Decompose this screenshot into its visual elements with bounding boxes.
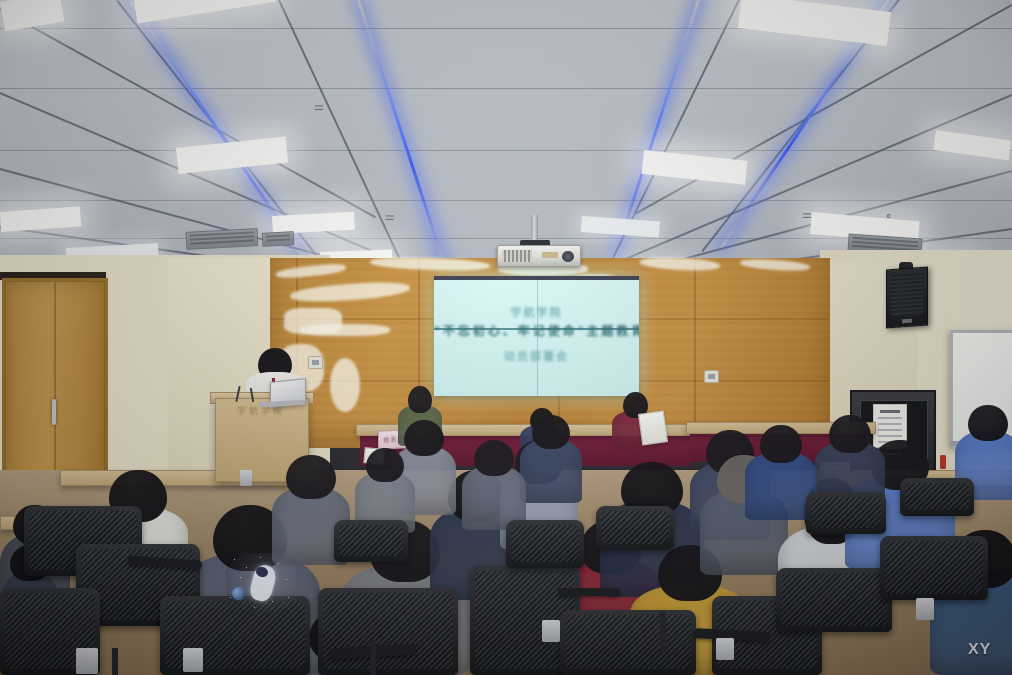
auditorium-chair[interactable] [900,478,974,516]
slide-line-2: "不忘初心、牢记使命"主题教育 [434,322,639,339]
auditorium-chair[interactable] [334,520,408,562]
person-head [474,440,514,476]
chair-bracket [240,470,252,486]
projector-lens-icon [562,251,574,262]
projection-screen: 宇航学院 "不忘初心、牢记使命"主题教育 动员部署会 [434,276,639,396]
ceiling-light-panel [0,206,81,232]
sprinkler-icon: ⚬ [884,212,893,223]
auditorium-chair[interactable] [318,588,458,675]
wall-switch[interactable] [704,370,719,383]
sprinkler-icon: ⚌ [802,210,812,221]
projector-vents [502,250,532,262]
held-papers [638,410,668,445]
person-head [408,386,432,413]
chair-bracket [542,620,560,642]
auditorium-chair[interactable] [596,506,674,550]
ceiling-light-panel [738,0,891,46]
ceiling-light-panel [176,137,288,174]
chair-leg [660,612,666,652]
chair-bracket [183,648,203,672]
ceiling-light-panel [132,0,276,24]
chair-bracket [716,638,734,660]
slide-line-3: 动员部署会 [434,348,639,364]
chair-leg [370,640,376,675]
moon-icon [232,587,245,600]
person-head [968,405,1008,441]
person-head [366,448,404,482]
door-handle[interactable] [52,399,56,425]
speaker-grill [891,273,923,317]
chair-bracket [76,648,98,674]
photo-scene: ⚌ ⚌ ⚌ ⚬ [0,0,1012,675]
ceiling-light-panel [933,130,1011,160]
ceiling-light-panel [641,150,747,185]
person-head [829,415,871,453]
wall-speaker [886,267,928,329]
auditorium-chair[interactable] [806,492,886,534]
audience-member [462,440,526,530]
person-head [532,415,570,449]
chair-leg [112,648,118,675]
ceiling-light-panel [581,216,660,237]
slide-line-1: 宇航学院 [434,304,639,320]
chair-armrest [558,588,620,596]
jacket-text: XY [968,641,991,659]
person-head [760,425,802,463]
auditorium-chair[interactable] [880,536,988,600]
person-head [286,455,336,499]
audience-member [520,415,582,503]
auditorium-chair[interactable] [560,610,696,675]
ceiling-projector [497,245,581,267]
auditorium-chair[interactable] [776,568,892,632]
blue-accent-light [357,0,449,277]
chair-bracket [916,598,934,620]
projector-mount-pole [531,215,538,243]
astronaut-graphic [226,553,296,615]
auditorium-chair[interactable] [506,520,584,568]
sprinkler-icon: ⚌ [314,102,324,113]
projector-label [542,252,558,258]
sprinkler-icon: ⚌ [385,212,395,223]
speaker-badge [902,319,912,324]
wall-switch[interactable] [308,356,323,369]
air-vent [262,231,295,247]
air-vent [186,228,259,250]
